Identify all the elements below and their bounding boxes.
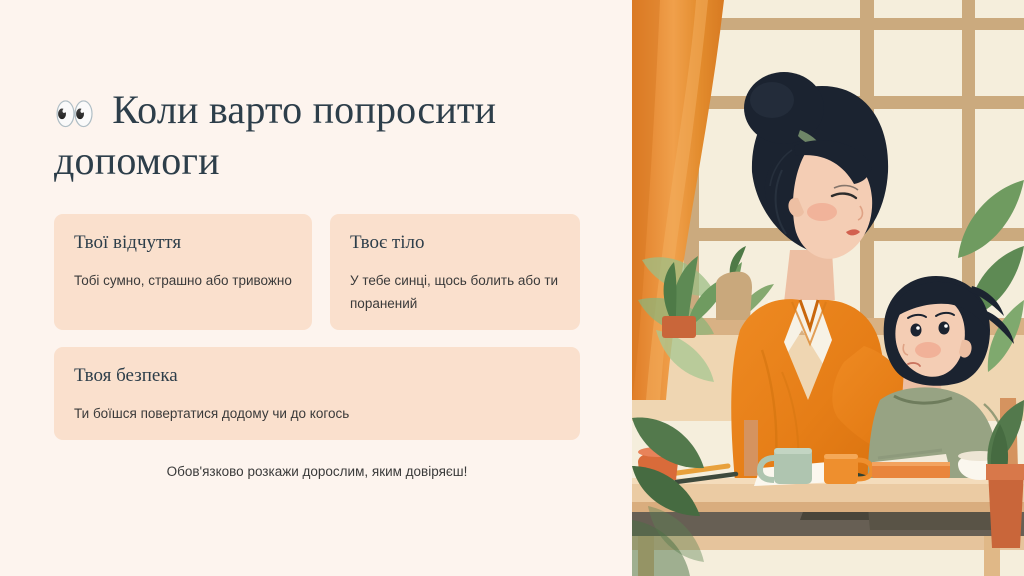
eyes-icon: 👀 — [54, 94, 95, 133]
illustration-panel — [632, 0, 1024, 576]
card-body-title: Твоє тіло — [350, 232, 560, 255]
page-title-text: Коли варто попросити допомоги — [54, 87, 496, 183]
card-safety-title: Твоя безпека — [74, 365, 560, 388]
boy-eye-left — [911, 324, 922, 337]
boy-eye-right — [939, 322, 950, 335]
footer-note: Обов'язково розкажи дорослим, яким довір… — [54, 462, 580, 482]
card-body-text: У тебе синці, щось болить або ти поранен… — [350, 269, 560, 315]
card-feelings-body: Тобі сумно, страшно або тривожно — [74, 269, 292, 292]
card-feelings-title: Твої відчуття — [74, 232, 292, 255]
content-panel: 👀Коли варто попросити допомоги Твої відч… — [0, 0, 632, 576]
plant-pot-small — [662, 316, 696, 338]
plant-pot-right — [988, 470, 1024, 548]
illustration-woman-and-boy — [632, 0, 1024, 576]
vase — [716, 272, 752, 320]
card-feelings[interactable]: Твої відчуття Тобі сумно, страшно або тр… — [54, 214, 312, 330]
card-body[interactable]: Твоє тіло У тебе синці, щось болить або … — [330, 214, 580, 330]
page-title: 👀Коли варто попросити допомоги — [54, 84, 599, 186]
card-safety[interactable]: Твоя безпека Ти боїшся повертатися додом… — [54, 347, 580, 440]
card-safety-body: Ти боїшся повертатися додому чи до когос… — [74, 402, 560, 425]
slide-root: 👀Коли варто попросити допомоги Твої відч… — [0, 0, 1024, 576]
blush — [807, 203, 837, 221]
